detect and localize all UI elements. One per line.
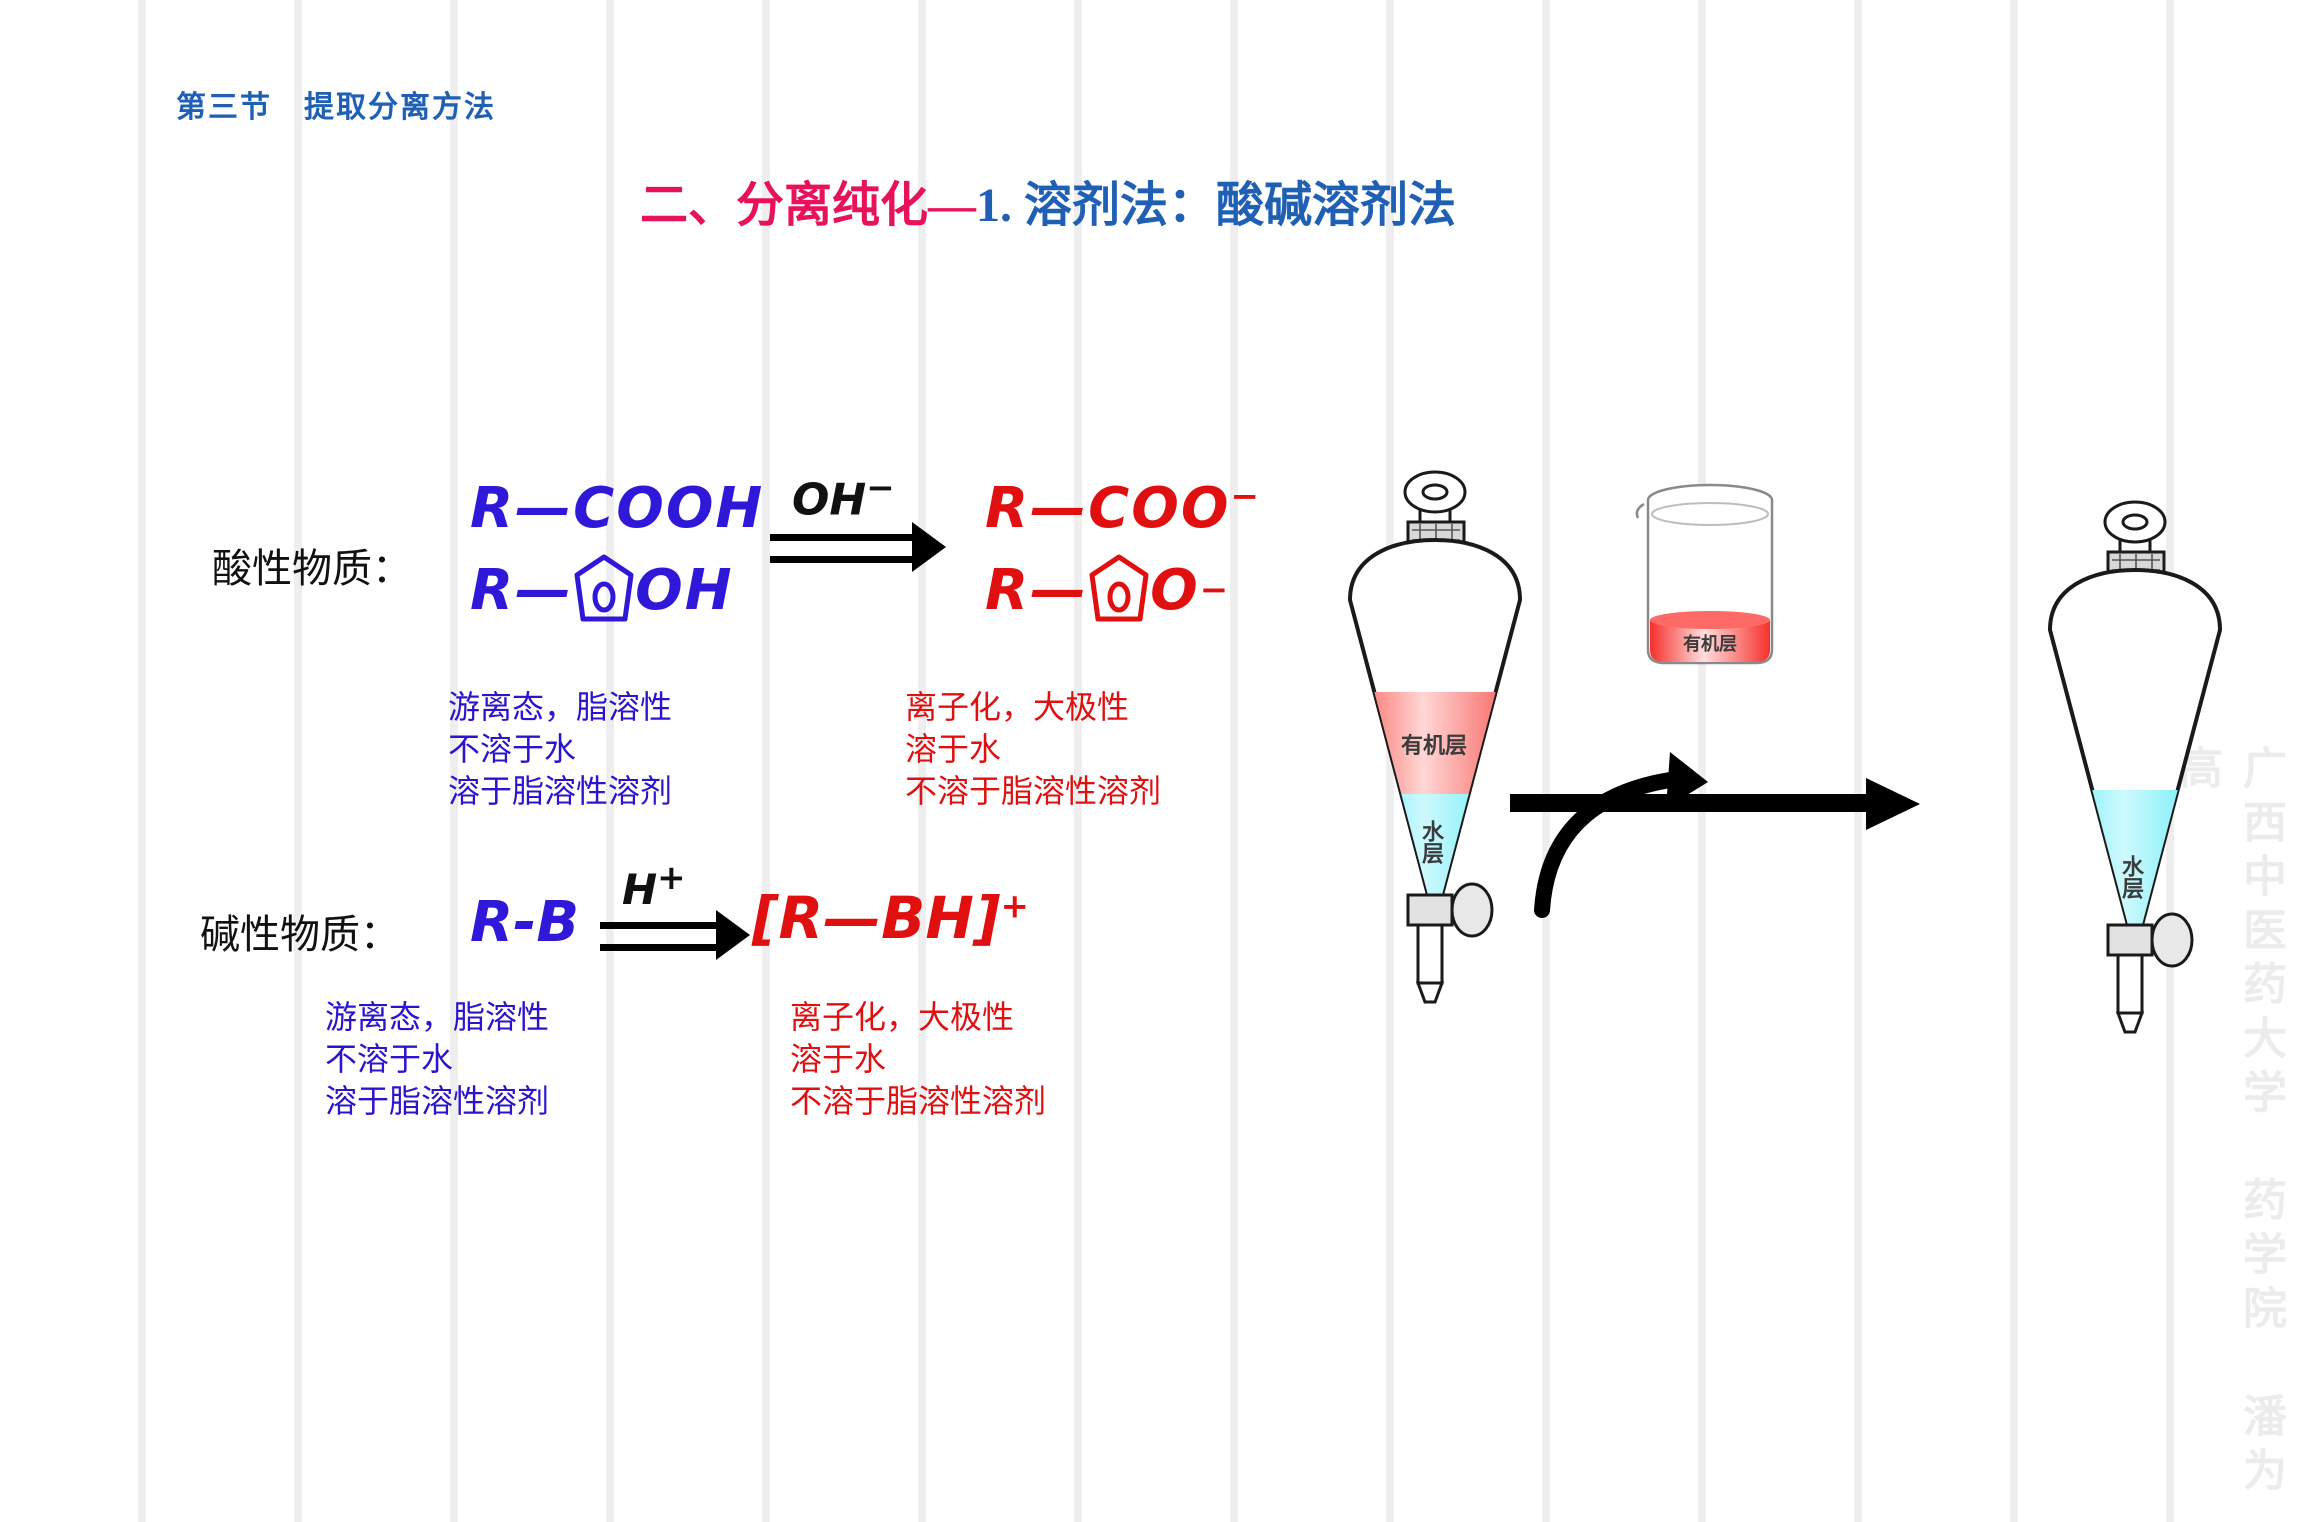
base-reactant-caption: 游离态，脂溶性 不溶于水 溶于脂溶性溶剂: [325, 996, 549, 1123]
beaker-icon: [1620, 470, 1800, 690]
acid-arrow-reagent: OH−: [792, 468, 895, 526]
acid-product-line2: R— O−: [985, 553, 1261, 627]
page-title-part-pink: 二、分离纯化—: [640, 179, 976, 232]
acid-product-caption: 离子化，大极性 溶于水 不溶于脂溶性溶剂: [905, 686, 1161, 813]
funnel-left-organic-layer-label: 有机层: [1394, 728, 1474, 760]
acid-product-line2-prefix: R—: [985, 558, 1088, 623]
acid-reaction-arrow: OH−: [770, 520, 946, 578]
funnel-right-aqueous-layer-label: 水层: [2120, 855, 2142, 899]
acid-substance-label: 酸性物质：: [212, 536, 412, 594]
acid-reactant-caption: 游离态，脂溶性 不溶于水 溶于脂溶性溶剂: [448, 686, 672, 813]
acid-reactant-line2-suffix: OH: [635, 558, 733, 623]
curved-transfer-arrow-icon: [1530, 670, 1750, 920]
page-title: 二、分离纯化—1. 溶剂法：酸碱溶剂法: [640, 165, 1456, 235]
page-title-part-blue: 1. 溶剂法：酸碱溶剂法: [976, 179, 1456, 232]
separatory-funnel-right-icon: [2020, 500, 2250, 1040]
acid-product-line1: R—COO−: [985, 476, 1261, 541]
acid-reactant-line2-prefix: R—: [470, 558, 573, 623]
base-product-formula: [R—BH]+: [752, 884, 1029, 952]
beaker-content-label: 有机层: [1675, 630, 1745, 656]
base-reaction-arrow: H+: [600, 908, 750, 966]
base-substance-label: 碱性物质：: [200, 902, 400, 960]
funnel-left-aqueous-layer-label: 水层: [1420, 820, 1442, 864]
base-arrow-reagent-charge: +: [657, 858, 686, 898]
benzene-ring-icon: [1088, 553, 1150, 627]
acid-product-line1-charge: −: [1230, 476, 1261, 516]
acid-reactant-line1: R—COOH: [470, 476, 764, 541]
base-reactant-formula: R-B: [470, 890, 579, 955]
acid-product-line2-suffix: O: [1150, 558, 1200, 623]
extraction-apparatus-diagram: 有机层 水层 有机层: [1320, 470, 2280, 1010]
acid-reactant-formulas: R—COOH R— OH: [470, 476, 764, 627]
acid-reactant-line2: R— OH: [470, 553, 764, 627]
benzene-ring-icon: [573, 553, 635, 627]
acid-product-formulas: R—COO− R— O−: [985, 476, 1261, 627]
double-arrow-icon: OH−: [770, 520, 946, 578]
base-product-charge: +: [1000, 887, 1029, 927]
base-arrow-reagent: H+: [622, 858, 686, 914]
base-product-caption: 离子化，大极性 溶于水 不溶于脂溶性溶剂: [790, 996, 1046, 1123]
double-arrow-icon: H+: [600, 908, 750, 966]
acid-arrow-reagent-charge: −: [866, 468, 895, 508]
acid-product-line2-charge: −: [1200, 570, 1231, 610]
section-header: 第三节 提取分离方法: [176, 82, 496, 126]
